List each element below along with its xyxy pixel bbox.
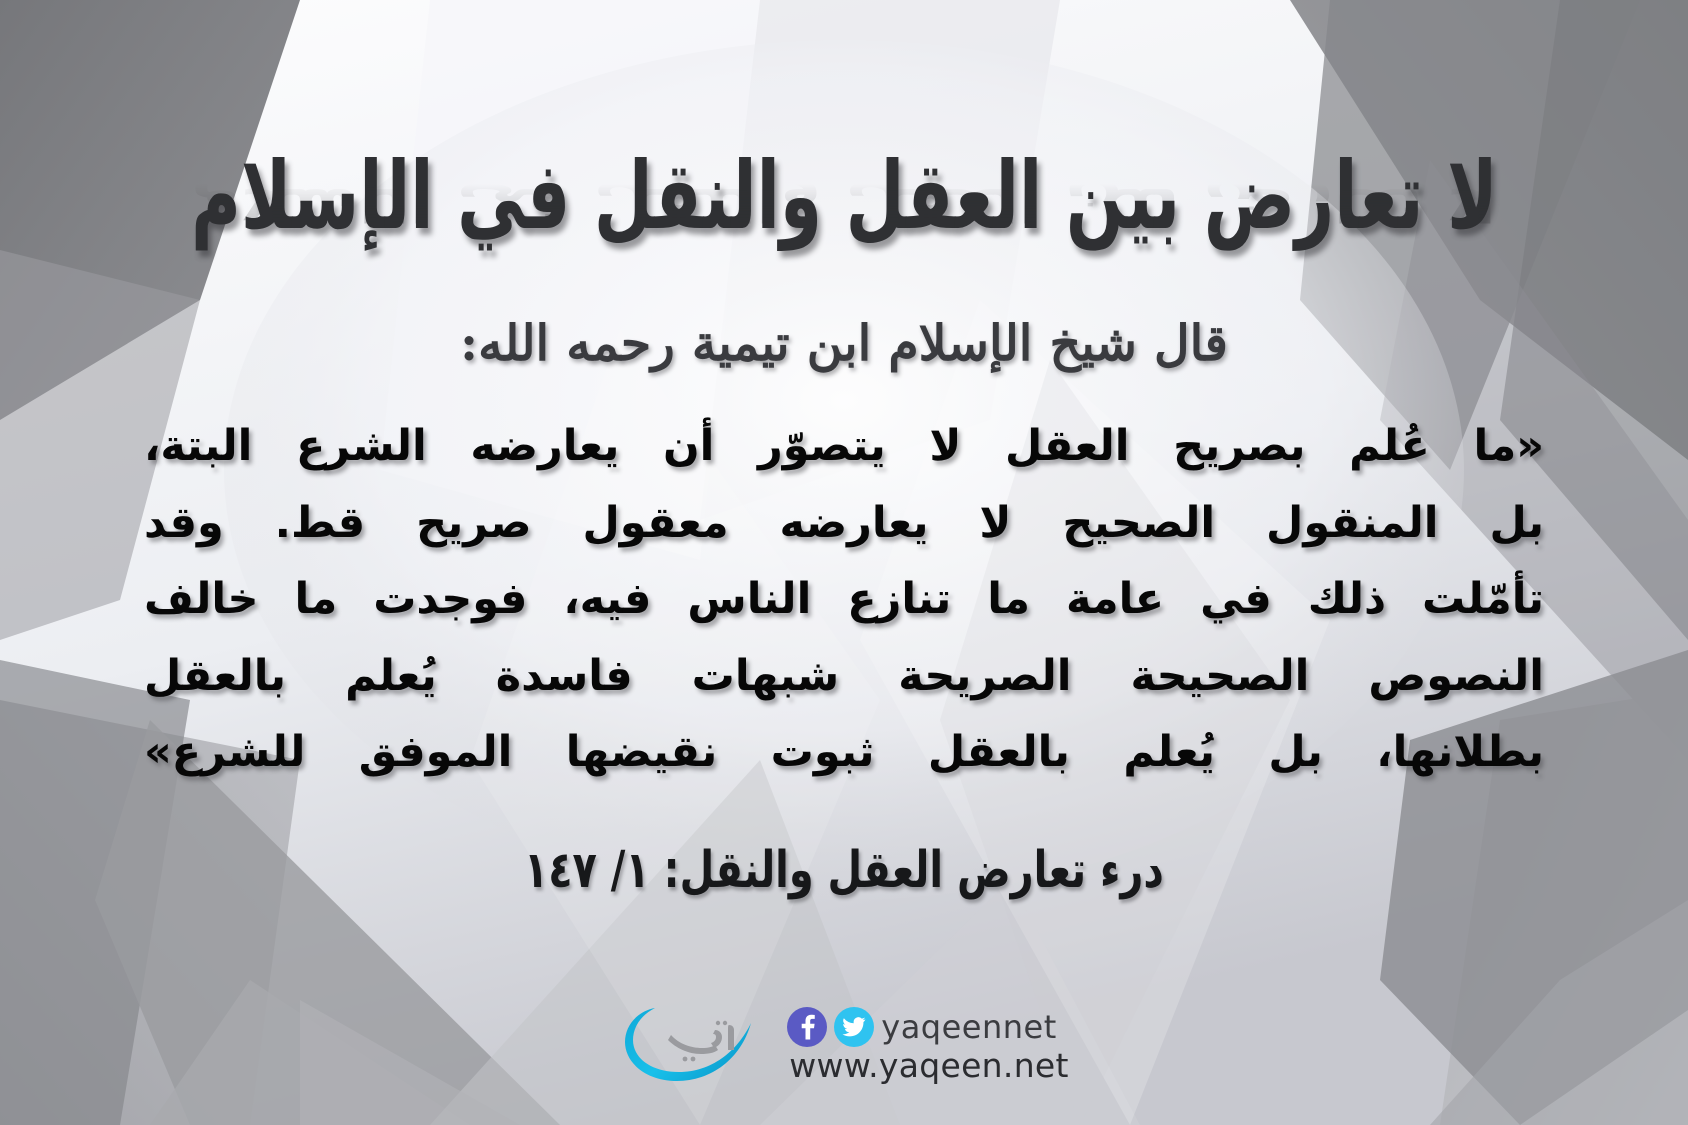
quote-line: بطلانها، بل يُعلم بالعقل ثبوت نقيضها الم…	[144, 714, 1544, 791]
quote-line: النصوص الصحيحة الصريحة شبهات فاسدة يُعلم…	[144, 638, 1544, 715]
yaqeen-logo[interactable]	[619, 999, 769, 1091]
source-citation: درء تعارض العقل والنقل: ١/ ١٤٧	[524, 840, 1164, 899]
poster-content: لا تعارض بين العقل والنقل في الإسلام لا …	[0, 0, 1688, 1125]
facebook-icon[interactable]	[787, 1007, 827, 1047]
poster-title: لا تعارض بين العقل والنقل في الإسلام	[191, 150, 1498, 243]
social-handle-text: yaqeennet	[881, 1011, 1057, 1043]
social-block: yaqeennet www.yaqeen.net	[787, 1007, 1069, 1084]
website-url[interactable]: www.yaqeen.net	[789, 1049, 1069, 1084]
title-block: لا تعارض بين العقل والنقل في الإسلام لا …	[0, 150, 1688, 300]
poster-subtitle: قال شيخ الإسلام ابن تيمية رحمه الله:	[460, 314, 1228, 372]
social-handle-row: yaqeennet	[787, 1007, 1057, 1047]
footer-branding: yaqeennet www.yaqeen.net	[0, 999, 1688, 1091]
quote-poster: لا تعارض بين العقل والنقل في الإسلام لا …	[0, 0, 1688, 1125]
quote-line: «ما عُلم بصريح العقل لا يتصوّر أن يعارضه…	[144, 408, 1544, 485]
quote-body: «ما عُلم بصريح العقل لا يتصوّر أن يعارضه…	[144, 408, 1544, 791]
quote-line: تأمّلت ذلك في عامة ما تنازع الناس فيه، ف…	[144, 561, 1544, 638]
quote-line: بل المنقول الصحيح لا يعارضه معقول صريح ق…	[144, 485, 1544, 562]
twitter-icon[interactable]	[834, 1007, 874, 1047]
